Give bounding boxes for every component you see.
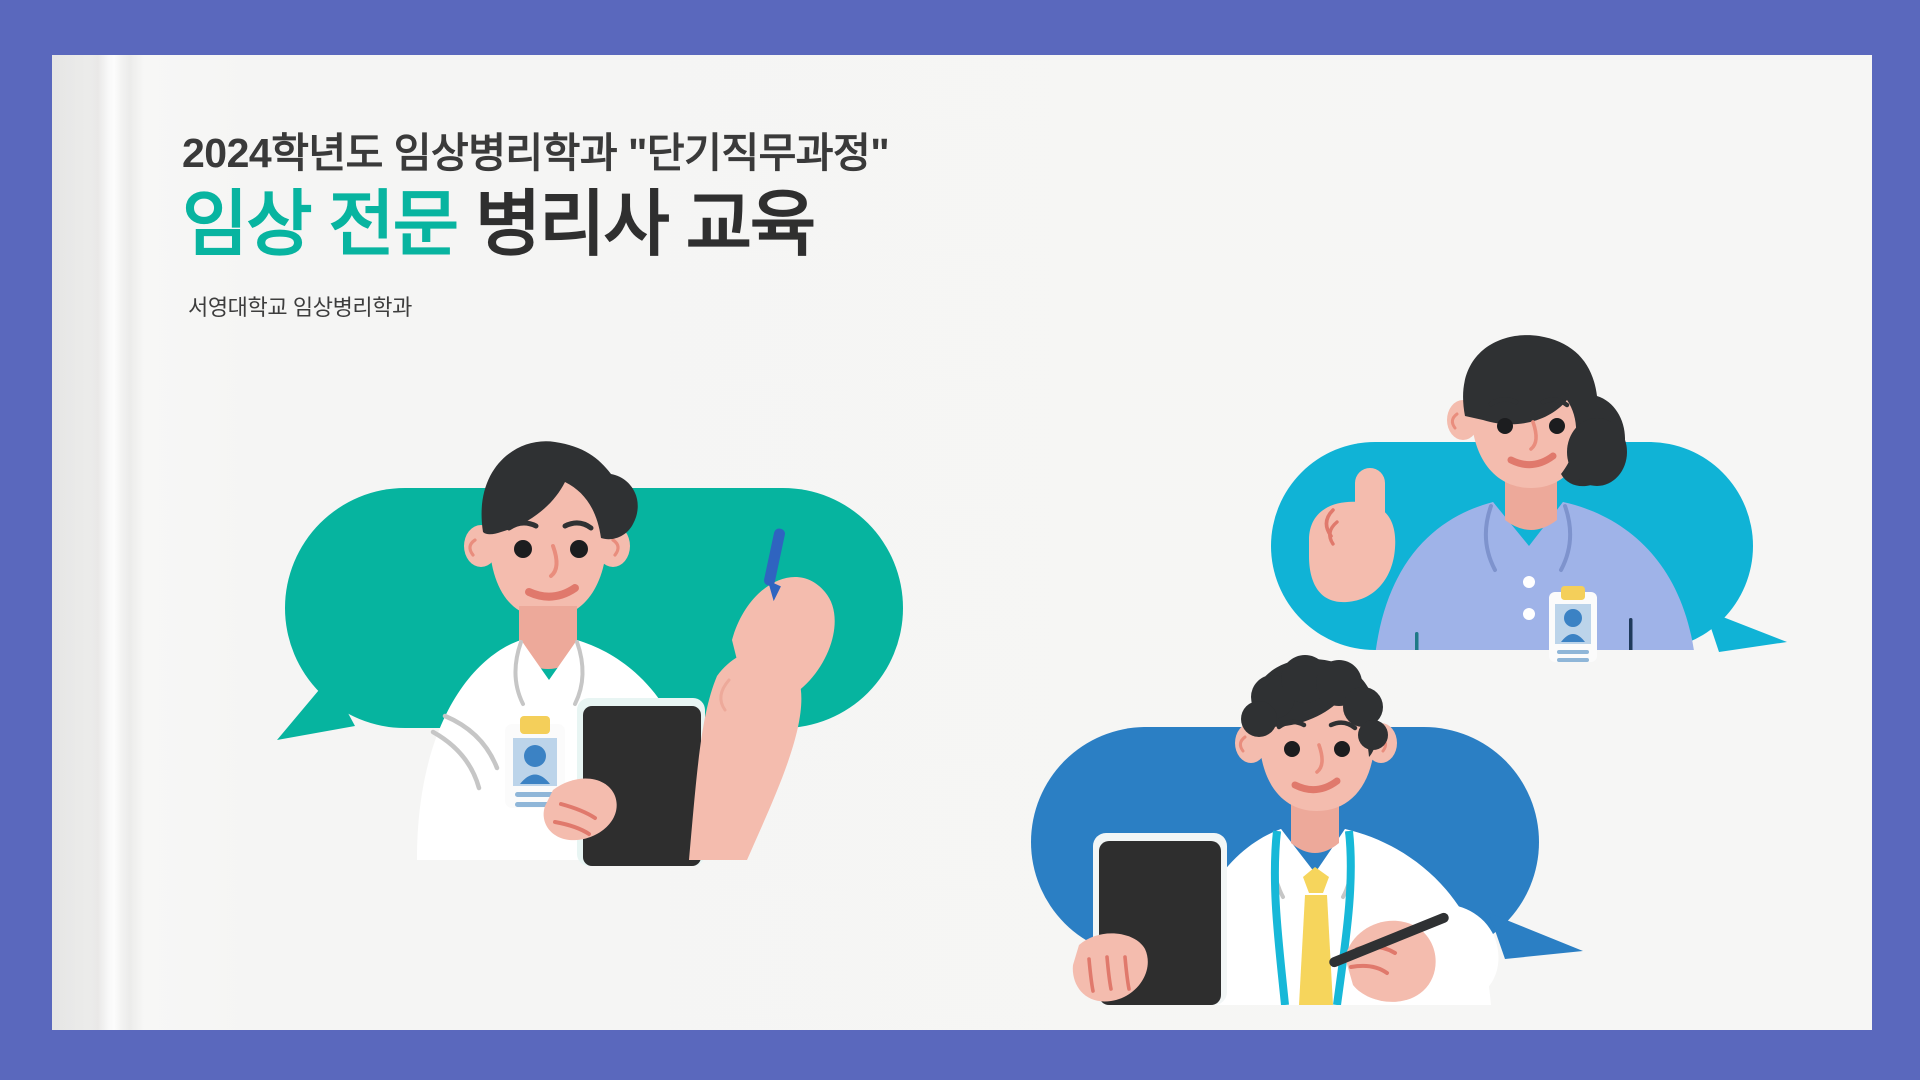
byline-text: 서영대학교 임상병리학과 bbox=[188, 290, 1282, 322]
left-student-svg bbox=[277, 440, 977, 860]
page-title-accent: 임상 전문 bbox=[182, 185, 457, 265]
page-title-rest: 병리사 교육 bbox=[457, 185, 814, 265]
slide-stage: 2024학년도 임상병리학과 "단기직무과정" 임상 전문 병리사 교육 서영대… bbox=[0, 0, 1920, 1080]
page-title: 임상 전문 병리사 교육 bbox=[182, 185, 1282, 266]
doctor-svg bbox=[1027, 645, 1597, 1005]
illustration-topright-nurse bbox=[1267, 360, 1787, 680]
page-fold-shadow bbox=[52, 55, 172, 1030]
eyebrow-text: 2024학년도 임상병리학과 "단기직무과정" bbox=[182, 130, 1282, 177]
nurse-svg bbox=[1267, 360, 1787, 680]
illustration-bottomright-doctor bbox=[1027, 645, 1597, 1005]
slide-sheet: 2024학년도 임상병리학과 "단기직무과정" 임상 전문 병리사 교육 서영대… bbox=[52, 55, 1872, 1030]
title-block: 2024학년도 임상병리학과 "단기직무과정" 임상 전문 병리사 교육 서영대… bbox=[182, 130, 1282, 322]
illustration-left-student bbox=[277, 440, 977, 860]
